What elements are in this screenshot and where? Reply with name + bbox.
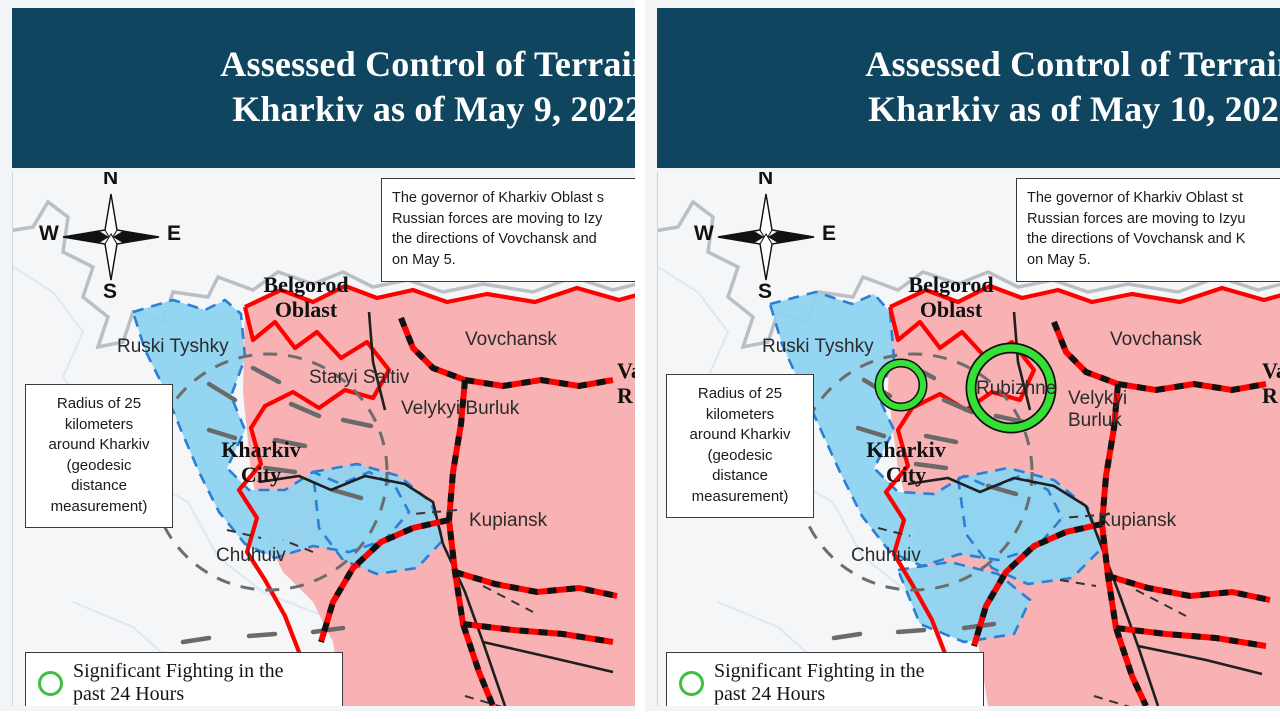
radius-note-box: Radius of 25 kilometers around Kharkiv (… (666, 374, 814, 518)
legend-label: Significant Fighting in the past 24 Hour… (73, 660, 284, 706)
dual-map-comparison: Assessed Control of Terrain in Kharkiv a… (0, 0, 1280, 719)
compass-rose: N W E S (55, 184, 167, 288)
left-header-bar: Assessed Control of Terrain in Kharkiv a… (12, 8, 635, 168)
left-map-panel: Assessed Control of Terrain in Kharkiv a… (0, 0, 635, 711)
compass-north-label: N (758, 172, 773, 190)
compass-east-label: E (822, 222, 836, 246)
right-map-panel: Assessed Control of Terrain in Kharkiv a… (645, 0, 1280, 711)
compass-west-label: W (39, 222, 59, 246)
compass-star-icon (55, 184, 167, 288)
compass-star-icon (710, 184, 822, 288)
legend-box: Significant Fighting in the past 24 Hour… (666, 652, 984, 706)
left-map-canvas: N W E S Belgorod Oblast Ruski Tyshky Sta… (12, 172, 635, 706)
green-ring-icon (679, 671, 704, 696)
right-header-bar: Assessed Control of Terrain in Kharkiv a… (657, 8, 1280, 168)
green-ring-icon (38, 671, 63, 696)
compass-west-label: W (694, 222, 714, 246)
left-page-title: Assessed Control of Terrain in Kharkiv a… (12, 42, 635, 132)
compass-north-label: N (103, 172, 118, 190)
compass-east-label: E (167, 222, 181, 246)
compass-rose: N W E S (710, 184, 822, 288)
compass-south-label: S (103, 280, 117, 304)
radius-note-box: Radius of 25 kilometers around Kharkiv (… (25, 384, 173, 528)
legend-label: Significant Fighting in the past 24 Hour… (714, 660, 925, 706)
compass-south-label: S (758, 280, 772, 304)
legend-box: Significant Fighting in the past 24 Hour… (25, 652, 343, 706)
governor-note-box: The governor of Kharkiv Oblast st Russia… (1016, 178, 1280, 282)
right-page-title: Assessed Control of Terrain in Kharkiv a… (657, 42, 1280, 132)
governor-note-box: The governor of Kharkiv Oblast s Russian… (381, 178, 635, 282)
right-map-canvas: N W E S Belgorod Oblast Ruski Tyshky Rub… (657, 172, 1280, 706)
